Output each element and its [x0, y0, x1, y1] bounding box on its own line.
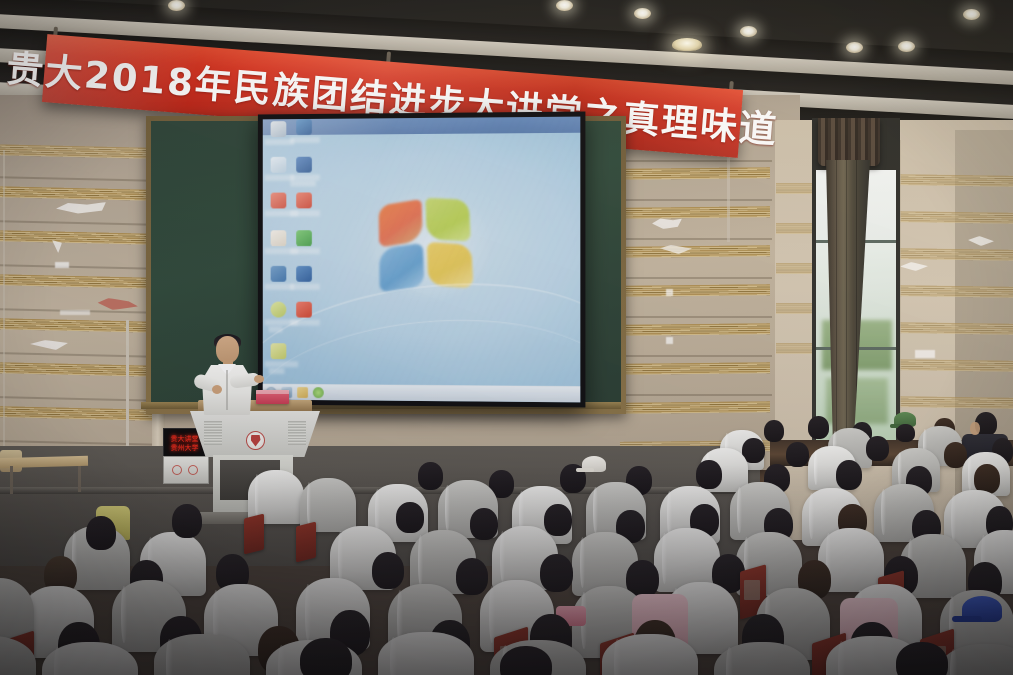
audience-head: [372, 552, 404, 589]
audience-head: [544, 504, 572, 536]
audience-head: [300, 638, 352, 675]
audience-head: [456, 558, 488, 595]
wall-blemish: [666, 337, 673, 344]
wall-blemish: [666, 289, 673, 296]
audience-head: [896, 642, 948, 675]
desktop-icon-writer[interactable]: [296, 266, 312, 282]
taskbar-folder-icon[interactable]: [297, 387, 308, 398]
projected-desktop: [263, 117, 581, 403]
audience-head: [470, 508, 498, 540]
wall-blemish: [915, 350, 935, 358]
lecture-hall-photo: 贵大2018年民族团结进步大讲堂之真理味道: [0, 0, 1013, 675]
windows-logo: [379, 198, 482, 296]
audience-head: [808, 416, 829, 439]
audience-head: [836, 460, 862, 490]
audience-head: [540, 554, 573, 592]
audience-seating: [0, 398, 1013, 675]
audience-head: [786, 442, 809, 467]
ceiling-downlight: [963, 9, 980, 20]
desktop-icon-word[interactable]: [296, 157, 312, 173]
ceiling-downlight: [168, 0, 185, 11]
desktop-icon-wps[interactable]: [296, 230, 312, 246]
desktop-icon-recycle-bin[interactable]: [271, 157, 287, 173]
desktop-icon-pdf[interactable]: [271, 193, 287, 209]
speaker-right-hand: [254, 375, 264, 383]
audience-head: [896, 424, 915, 442]
desktop-icon-acrobat[interactable]: [271, 230, 287, 246]
audience-head: [418, 462, 443, 490]
audience-head: [86, 516, 116, 550]
wall-blemish: [55, 262, 69, 268]
desktop-icon-browser[interactable]: [271, 302, 287, 318]
taskbar-media-icon[interactable]: [313, 387, 324, 398]
ceiling-downlight: [846, 42, 863, 53]
desktop-icon-video[interactable]: [296, 192, 312, 208]
audience-head: [396, 502, 424, 533]
wall-mark: [60, 310, 90, 315]
ceiling-downlight: [740, 26, 757, 37]
ceiling-downlight: [556, 0, 573, 11]
audience-head: [696, 460, 722, 489]
projection-screen: [258, 111, 586, 407]
curtain-pelmet: [818, 118, 880, 166]
desktop-icon-ps[interactable]: [296, 119, 312, 135]
ceiling-downlight: [634, 8, 651, 19]
desktop-icon-presentation[interactable]: [296, 302, 312, 318]
desktop-icon-computer[interactable]: [271, 121, 287, 137]
speaker-left-hand: [212, 385, 222, 394]
ceiling-downlight: [898, 41, 915, 52]
speaker-head: [216, 336, 239, 363]
desktop-icon-notes[interactable]: [271, 266, 287, 282]
desktop-icon-office[interactable]: [271, 343, 287, 359]
audience-head: [764, 420, 784, 442]
audience-seat[interactable]: [378, 632, 474, 675]
audience-head: [866, 436, 889, 461]
pendant-light: [672, 38, 702, 51]
audience-head: [172, 504, 202, 538]
